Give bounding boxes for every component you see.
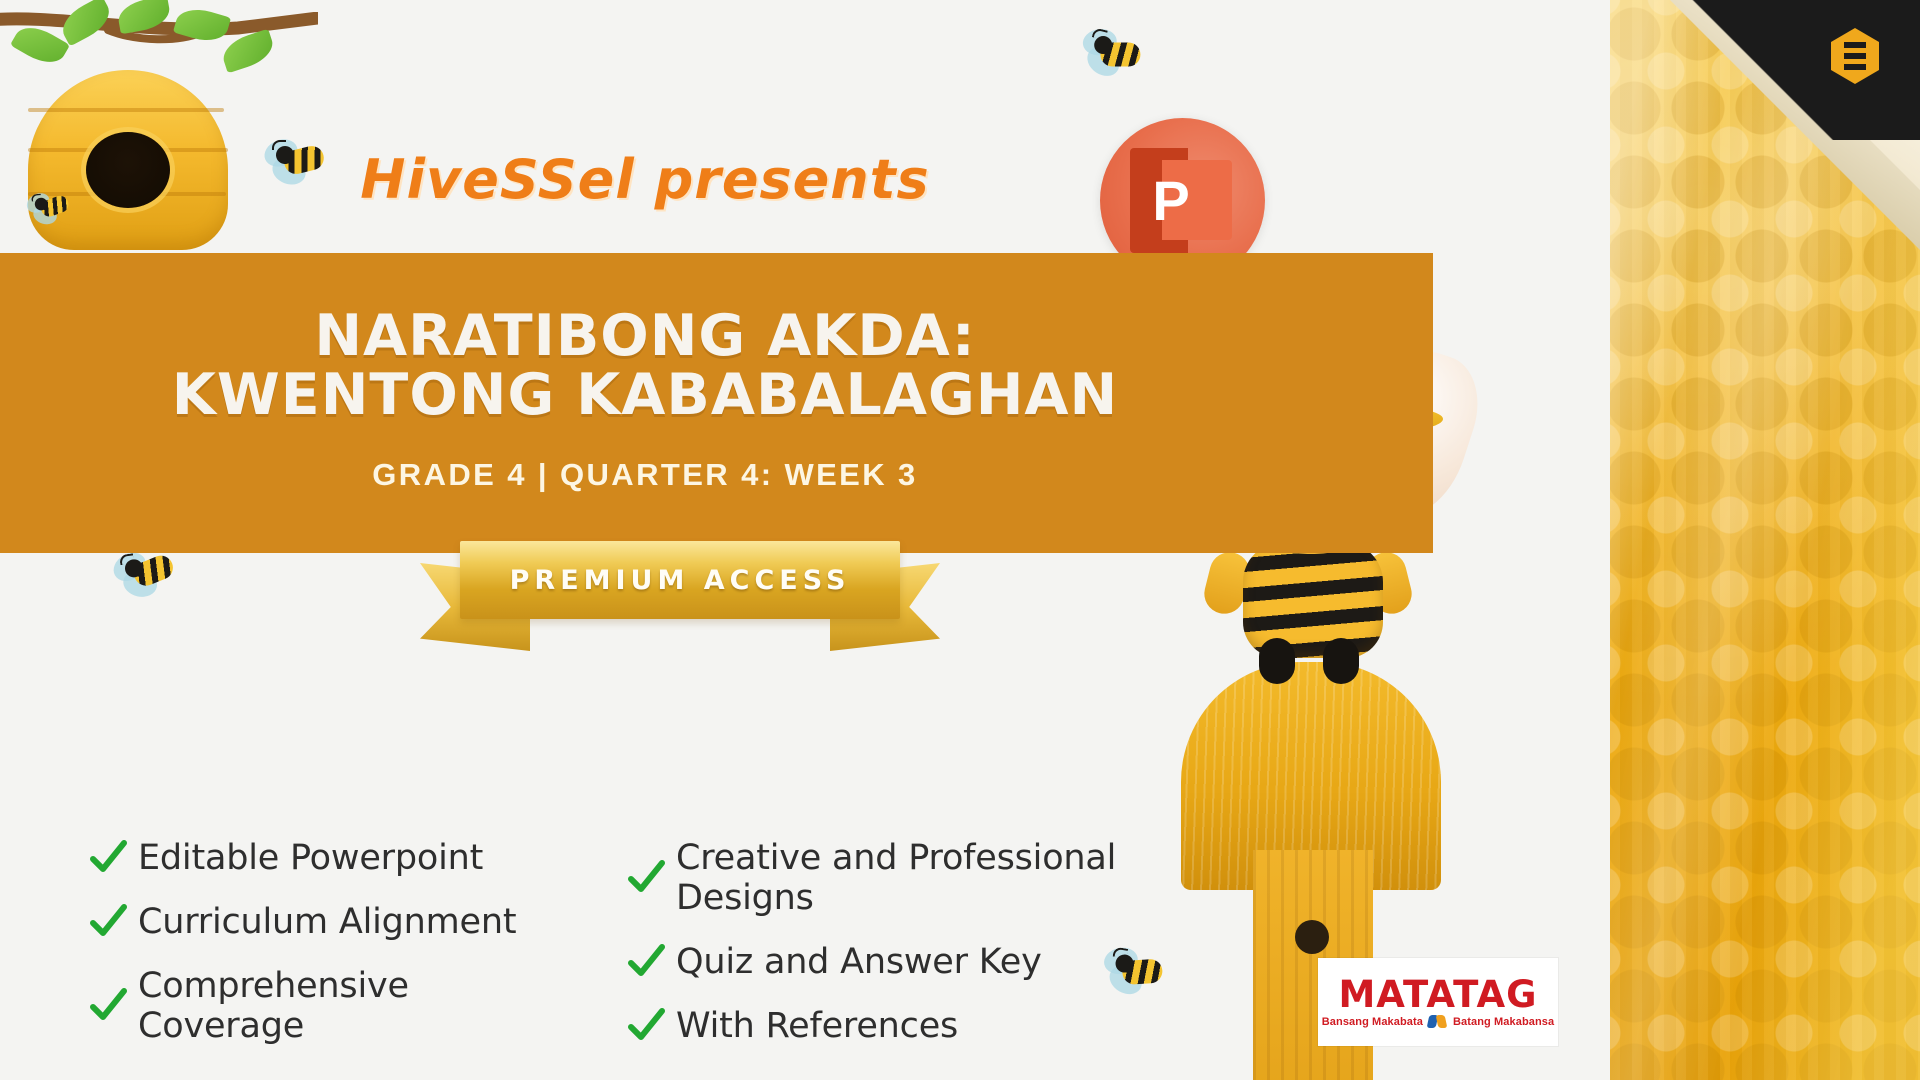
feature-label: Editable Powerpoint bbox=[138, 838, 483, 878]
feature-column-right: Creative and Professional Designs Quiz a… bbox=[626, 838, 1246, 1046]
matatag-wordmark: MATATAG bbox=[1338, 976, 1537, 1013]
matatag-tagline: Bansang Makabata Batang Makabansa bbox=[1322, 1015, 1555, 1029]
list-item: Curriculum Alignment bbox=[88, 902, 558, 942]
feature-list: Editable Powerpoint Curriculum Alignment… bbox=[88, 838, 1288, 1046]
page-fold-black bbox=[1670, 0, 1920, 140]
mascot-post-knot bbox=[1295, 920, 1329, 954]
list-item: Editable Powerpoint bbox=[88, 838, 558, 878]
presents-headline: HiveSSel presents bbox=[0, 148, 1290, 211]
check-icon bbox=[626, 1006, 666, 1046]
check-icon bbox=[626, 942, 666, 982]
bee-icon bbox=[1073, 25, 1146, 85]
matatag-tagline-left: Bansang Makabata bbox=[1322, 1016, 1423, 1028]
feature-column-left: Editable Powerpoint Curriculum Alignment… bbox=[88, 838, 558, 1046]
title-line-1: NARATIBONG AKDA: bbox=[172, 307, 1119, 366]
page-title: NARATIBONG AKDA: KWENTONG KABABALAGHAN bbox=[172, 307, 1119, 426]
check-icon bbox=[88, 838, 128, 878]
title-line-2: KWENTONG KABABALAGHAN bbox=[172, 366, 1119, 425]
list-item: Quiz and Answer Key bbox=[626, 942, 1246, 982]
promo-poster: HiveSSel presents P NARATIBONG AKDA: KWE… bbox=[0, 0, 1920, 1080]
hexagon-logo-icon bbox=[1828, 26, 1882, 86]
matatag-mark-icon bbox=[1428, 1015, 1448, 1029]
title-band: NARATIBONG AKDA: KWENTONG KABABALAGHAN G… bbox=[0, 253, 1433, 553]
premium-access-ribbon: PREMIUM ACCESS bbox=[420, 535, 940, 665]
mascot-leg-left bbox=[1259, 638, 1295, 684]
mascot-leg-right bbox=[1323, 638, 1359, 684]
feature-label: Quiz and Answer Key bbox=[676, 942, 1042, 982]
list-item: With References bbox=[626, 1006, 1246, 1046]
page-subtitle: GRADE 4 | QUARTER 4: WEEK 3 bbox=[372, 457, 917, 493]
feature-label: Comprehensive Coverage bbox=[138, 966, 558, 1046]
matatag-logo: MATATAG Bansang Makabata Batang Makabans… bbox=[1318, 958, 1558, 1046]
ribbon-body: PREMIUM ACCESS bbox=[460, 541, 900, 619]
matatag-tagline-right: Batang Makabansa bbox=[1453, 1016, 1554, 1028]
check-icon bbox=[88, 902, 128, 942]
ribbon-label: PREMIUM ACCESS bbox=[510, 565, 851, 596]
check-icon bbox=[626, 858, 666, 898]
bee-icon bbox=[109, 548, 179, 602]
check-icon bbox=[88, 986, 128, 1026]
powerpoint-letter: P bbox=[1120, 148, 1222, 253]
feature-label: Curriculum Alignment bbox=[138, 902, 516, 942]
list-item: Comprehensive Coverage bbox=[88, 966, 558, 1046]
list-item: Creative and Professional Designs bbox=[626, 838, 1246, 918]
feature-label: With References bbox=[676, 1006, 958, 1046]
feature-label: Creative and Professional Designs bbox=[676, 838, 1246, 918]
beehive-ring bbox=[28, 108, 224, 112]
mascot-body bbox=[1243, 542, 1383, 658]
